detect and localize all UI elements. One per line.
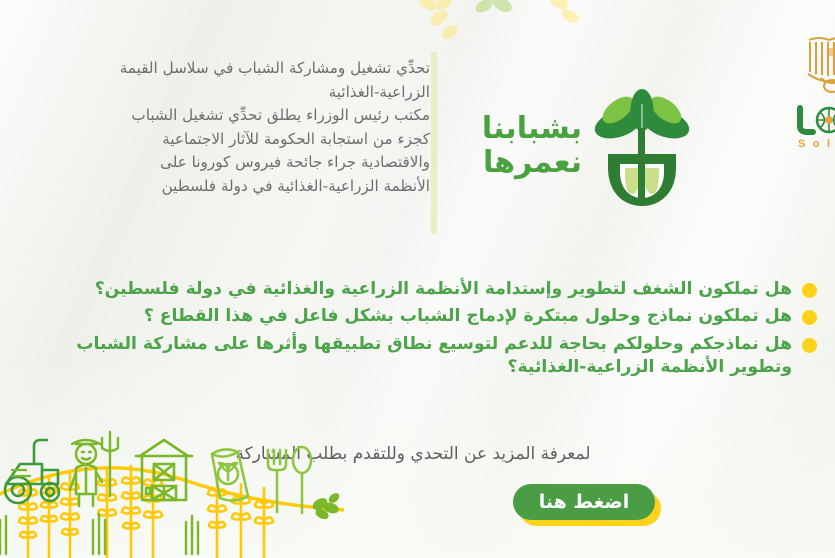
header-line-1: تحدِّي تشغيل ومشاركة الشباب في سلاسل الق… [100, 58, 430, 80]
sol-logo-label: S o l [798, 138, 832, 150]
questions-list: هل تملكون الشغف لتطوير وإستدامة الأنظمة … [17, 278, 817, 384]
header-section: تحدِّي تشغيل ومشاركة الشباب في سلاسل الق… [0, 48, 835, 238]
leaf-sprig-icon [311, 491, 342, 521]
question-item: هل تملكون نماذج وحلول مبتكرة لإدماج الشب… [17, 305, 817, 328]
plant-shovel-icon [582, 88, 702, 208]
question-item: هل تملكون الشغف لتطوير وإستدامة الأنظمة … [17, 278, 817, 301]
farmer-with-pitchfork-icon [70, 440, 102, 506]
brand-slogan-line-1: بشبابنا [452, 112, 582, 146]
question-item: هل نماذجكم وحلولكم بحاجة للدعم لتوسيع نط… [17, 333, 817, 380]
bullet-dot-icon [802, 338, 817, 353]
vertical-divider [431, 52, 437, 234]
brand-slogan-line-2: نعمرها [452, 146, 582, 180]
question-text: هل تملكون نماذج وحلول مبتكرة لإدماج الشب… [17, 305, 792, 328]
sol-logo-icon: S o l [796, 104, 835, 156]
header-line-6: الأنظمة الزراعية-الغذائية في دولة فلسطين [100, 176, 430, 198]
header-line-4: كجزء من استجابة الحكومة للآثار الاجتماعي… [100, 129, 430, 151]
header-line-5: والاقتصادية جراء جائحة فيروس كورونا على [100, 152, 430, 174]
bullet-dot-icon [802, 310, 817, 325]
banner-canvas: تحدِّي تشغيل ومشاركة الشباب في سلاسل الق… [0, 0, 835, 558]
click-here-button[interactable]: اضغط هنا [513, 484, 655, 520]
brand-slogan: بشبابنا نعمرها [452, 112, 582, 179]
eagle-emblem-icon [803, 34, 835, 96]
cta-button-wrapper: اضغط هنا [513, 484, 661, 526]
header-line-3: مكتب رئيس الوزراء يطلق تحدِّي تشغيل الشب… [100, 105, 430, 127]
header-line-2: الزراعية-الغذائية [100, 82, 430, 104]
header-paragraph: تحدِّي تشغيل ومشاركة الشباب في سلاسل الق… [100, 58, 430, 197]
question-text: هل نماذجكم وحلولكم بحاجة للدعم لتوسيع نط… [17, 333, 792, 380]
question-text: هل تملكون الشغف لتطوير وإستدامة الأنظمة … [17, 278, 792, 301]
brand-lockup: بشبابنا نعمرها [440, 70, 690, 220]
bullet-dot-icon [802, 283, 817, 298]
farm-scene-illustration [0, 408, 344, 558]
